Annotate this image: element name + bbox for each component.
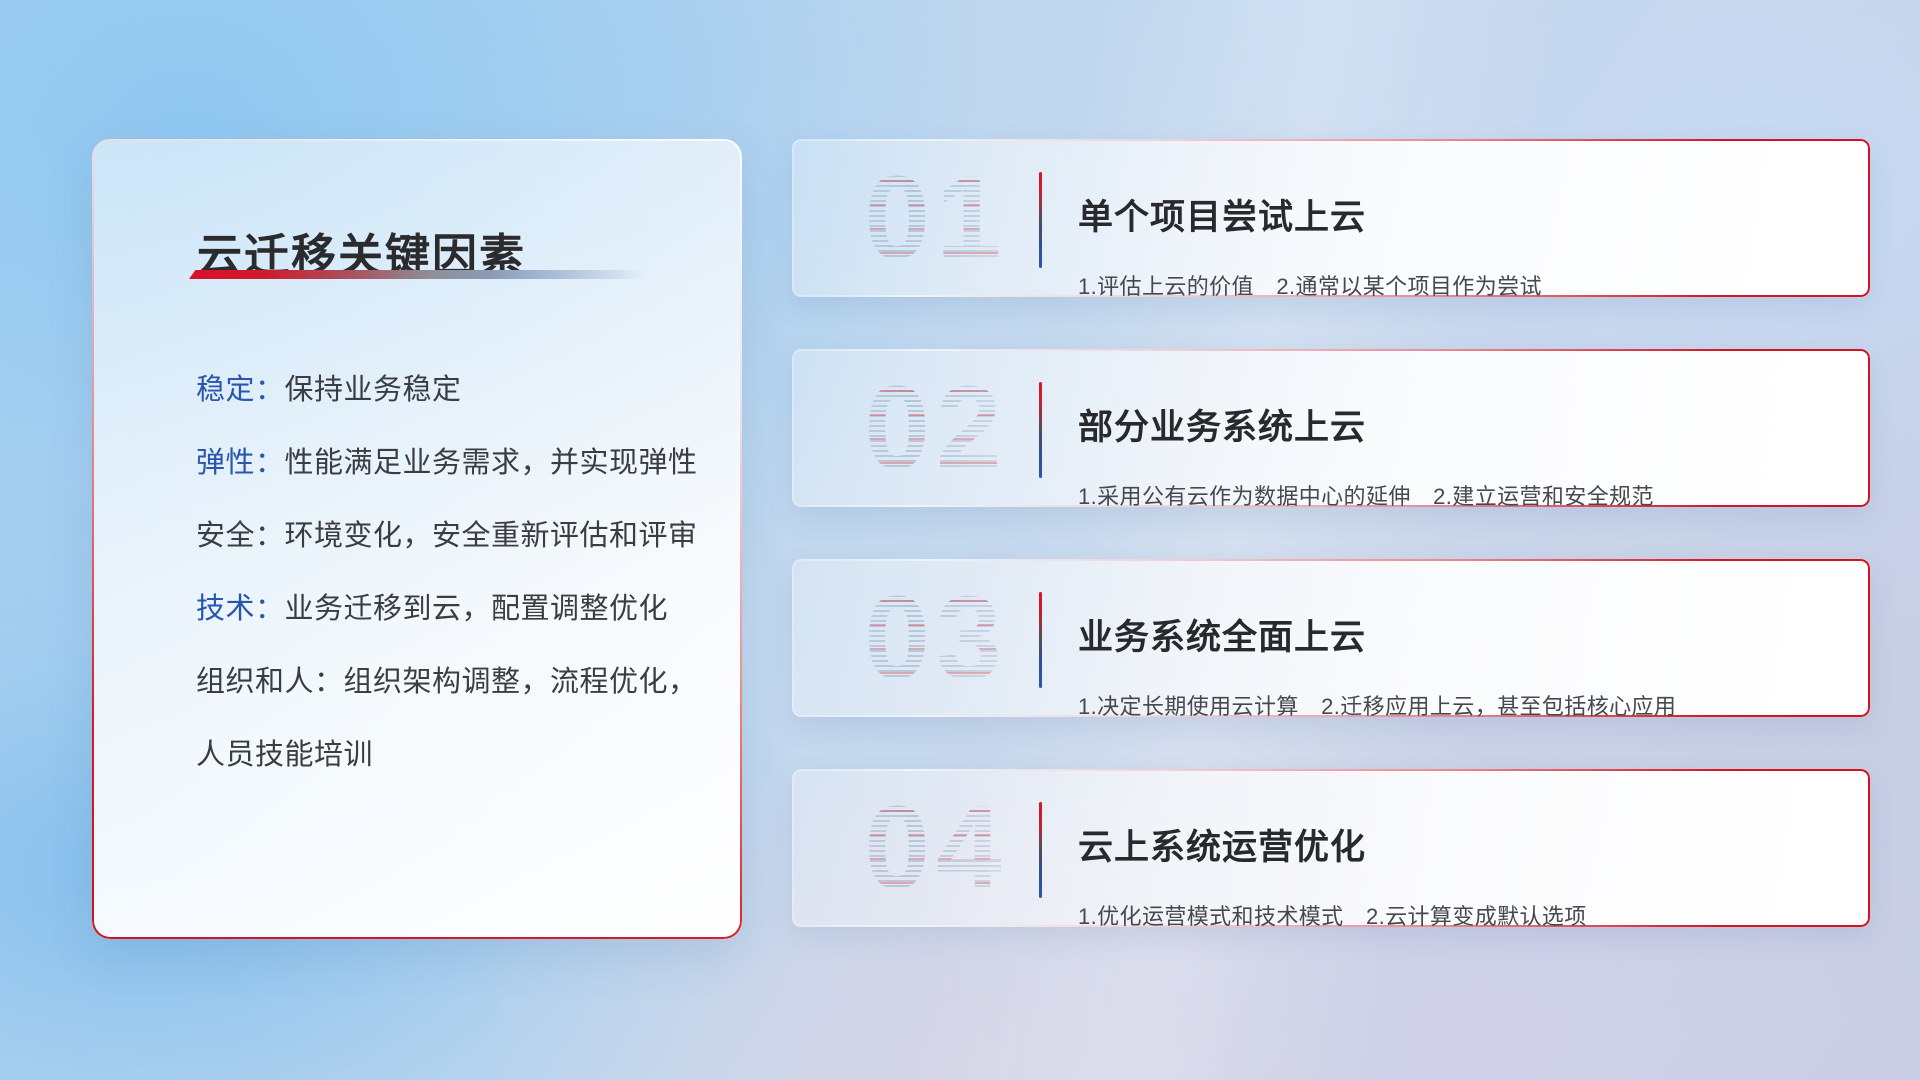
stage-number-glyph-tint: 03 bbox=[816, 565, 1056, 711]
stage-card-02[interactable]: 02 02 部分业务系统上云 1.采用公有云作为数据中心的延伸 2.建立运营和安… bbox=[792, 349, 1870, 507]
stage-description: 1.决定长期使用云计算 2.迁移应用上云，甚至包括核心应用 bbox=[1078, 691, 1830, 717]
stage-content: 业务系统全面上云 1.决定长期使用云计算 2.迁移应用上云，甚至包括核心应用 bbox=[1078, 585, 1830, 717]
stage-number-glyph-tint: 01 bbox=[816, 145, 1056, 291]
list-item-continuation: 人员技能培训 bbox=[92, 719, 742, 792]
stage-description: 1.采用公有云作为数据中心的延伸 2.建立运营和安全规范 bbox=[1078, 481, 1830, 507]
stage-divider-bar bbox=[1039, 592, 1042, 688]
stage-description: 1.优化运营模式和技术模式 2.云计算变成默认选项 bbox=[1078, 901, 1830, 927]
stage-title: 部分业务系统上云 bbox=[1078, 404, 1830, 452]
list-item: 技术：业务迁移到云，配置调整优化 bbox=[92, 573, 742, 646]
list-item: 组织和人：组织架构调整，流程优化， bbox=[92, 646, 742, 719]
list-item: 安全：环境变化，安全重新评估和评审 bbox=[92, 500, 742, 573]
list-item-label: 技术： bbox=[196, 593, 285, 625]
list-item: 稳定：保持业务稳定 bbox=[92, 354, 742, 427]
stage-card-01[interactable]: 01 01 单个项目尝试上云 1.评估上云的价值 2.通常以某个项目作为尝试 bbox=[792, 139, 1870, 297]
list-item-value: 性能满足业务需求，并实现弹性 bbox=[285, 447, 698, 479]
stage-title: 云上系统运营优化 bbox=[1078, 824, 1830, 872]
stage-divider-bar bbox=[1039, 172, 1042, 268]
stage-title: 业务系统全面上云 bbox=[1078, 614, 1830, 662]
list-item-label: 组织和人： bbox=[196, 666, 344, 698]
key-factors-list: 稳定：保持业务稳定 弹性：性能满足业务需求，并实现弹性 安全：环境变化，安全重新… bbox=[92, 354, 742, 792]
list-item-value: 组织架构调整，流程优化， bbox=[344, 666, 698, 698]
stage-card-03[interactable]: 03 03 业务系统全面上云 1.决定长期使用云计算 2.迁移应用上云，甚至包括… bbox=[792, 559, 1870, 717]
list-item-label: 稳定： bbox=[196, 374, 285, 406]
list-item-label: 安全： bbox=[196, 520, 285, 552]
stage-content: 单个项目尝试上云 1.评估上云的价值 2.通常以某个项目作为尝试 bbox=[1078, 165, 1830, 297]
list-item: 弹性：性能满足业务需求，并实现弹性 bbox=[92, 427, 742, 500]
migration-stages-list: 01 01 单个项目尝试上云 1.评估上云的价值 2.通常以某个项目作为尝试 0… bbox=[792, 139, 1870, 979]
title-underline-rule bbox=[189, 270, 645, 279]
list-item-label: 弹性： bbox=[196, 447, 285, 479]
stage-content: 云上系统运营优化 1.优化运营模式和技术模式 2.云计算变成默认选项 bbox=[1078, 795, 1830, 927]
stage-number-glyph-tint: 02 bbox=[816, 355, 1056, 501]
stage-content: 部分业务系统上云 1.采用公有云作为数据中心的延伸 2.建立运营和安全规范 bbox=[1078, 375, 1830, 507]
list-item-value: 环境变化，安全重新评估和评审 bbox=[285, 520, 698, 552]
stage-divider-bar bbox=[1039, 382, 1042, 478]
stage-description: 1.评估上云的价值 2.通常以某个项目作为尝试 bbox=[1078, 271, 1830, 297]
stage-card-04[interactable]: 04 04 云上系统运营优化 1.优化运营模式和技术模式 2.云计算变成默认选项 bbox=[792, 769, 1870, 927]
stage-divider-bar bbox=[1039, 802, 1042, 898]
stage-number-glyph-tint: 04 bbox=[816, 775, 1056, 921]
list-item-value: 业务迁移到云，配置调整优化 bbox=[285, 593, 669, 625]
list-item-value: 保持业务稳定 bbox=[285, 374, 462, 406]
key-factors-panel: 云迁移关键因素 稳定：保持业务稳定 弹性：性能满足业务需求，并实现弹性 安全：环… bbox=[92, 139, 742, 939]
stage-title: 单个项目尝试上云 bbox=[1078, 194, 1830, 242]
